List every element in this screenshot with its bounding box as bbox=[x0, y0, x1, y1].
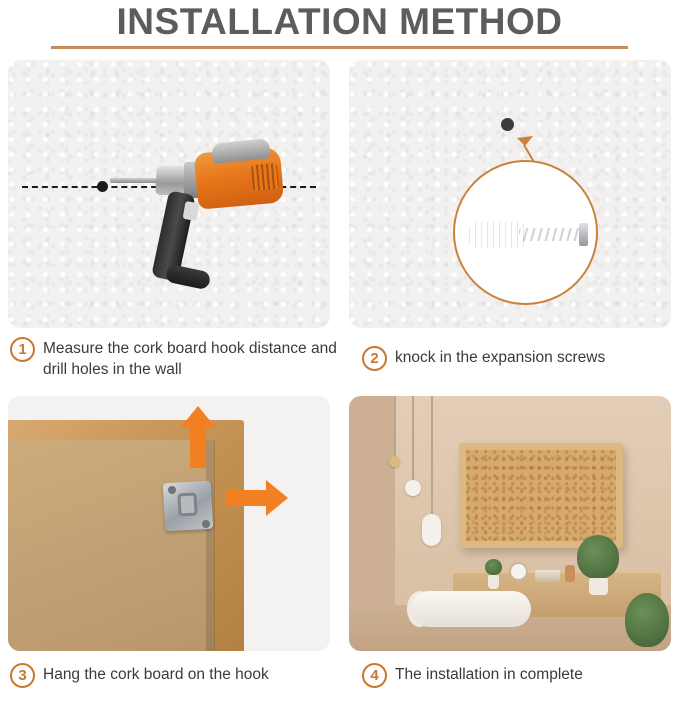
step-4-image bbox=[349, 396, 671, 651]
up-arrow-icon bbox=[180, 406, 216, 468]
mounted-cork-board bbox=[459, 443, 623, 548]
screw-head bbox=[579, 223, 588, 246]
cork-board-backing bbox=[8, 440, 214, 651]
decor-object bbox=[565, 565, 575, 582]
step-1-text: Measure the cork board hook distance and… bbox=[43, 336, 340, 380]
title-divider bbox=[51, 46, 628, 49]
step-3-text: Hang the cork board on the hook bbox=[43, 662, 269, 685]
pendant-cord-2 bbox=[431, 396, 433, 516]
drill-trigger bbox=[183, 201, 200, 221]
step-3-caption: 3 Hang the cork board on the hook bbox=[10, 662, 340, 688]
hook-screw-top bbox=[168, 486, 176, 494]
power-drill-illustration bbox=[100, 128, 290, 288]
step-2-image bbox=[349, 60, 671, 328]
step-2-caption: 2 knock in the expansion screws bbox=[362, 345, 672, 371]
board-edge-shadow bbox=[206, 440, 215, 651]
step-1-caption: 1 Measure the cork board hook distance a… bbox=[10, 336, 340, 380]
screw-shaft bbox=[519, 228, 585, 241]
small-plant bbox=[485, 559, 502, 575]
step-1-image bbox=[8, 60, 330, 328]
floor-plant bbox=[625, 593, 669, 647]
step-4-text: The installation in complete bbox=[395, 662, 583, 685]
drill-vent bbox=[251, 163, 279, 191]
right-arrow-icon bbox=[226, 480, 288, 516]
pendant-light-3 bbox=[389, 456, 400, 467]
cork-surface bbox=[466, 450, 616, 541]
wall-anchor-part bbox=[469, 222, 525, 248]
hook-keyhole-slot bbox=[177, 493, 197, 517]
wall-surface bbox=[8, 60, 330, 328]
table-plant bbox=[577, 535, 619, 579]
wall-surface bbox=[349, 60, 671, 328]
pendant-light-2 bbox=[422, 514, 441, 546]
magnified-detail-circle bbox=[453, 160, 598, 305]
table-clock bbox=[509, 562, 528, 581]
step-1-number: 1 bbox=[10, 337, 35, 362]
drill-bit bbox=[110, 178, 162, 183]
finished-room-scene bbox=[349, 396, 671, 651]
page-title: INSTALLATION METHOD bbox=[0, 0, 679, 44]
rolled-rug bbox=[411, 591, 531, 627]
drill-grip-base bbox=[165, 264, 212, 291]
hook-screw-bottom bbox=[202, 520, 210, 528]
step-2-number: 2 bbox=[362, 346, 387, 371]
installation-method-infographic: INSTALLATION METHOD bbox=[0, 0, 679, 703]
step-4-caption: 4 The installation in complete bbox=[362, 662, 672, 688]
table-plant-pot bbox=[589, 578, 608, 595]
step-3-image bbox=[8, 396, 330, 651]
page-title-area: INSTALLATION METHOD bbox=[0, 0, 679, 50]
pendant-light-1 bbox=[405, 480, 421, 496]
step-4-number: 4 bbox=[362, 663, 387, 688]
pendant-cord-1 bbox=[412, 396, 414, 482]
small-plant-pot bbox=[488, 575, 499, 589]
step-3-number: 3 bbox=[10, 663, 35, 688]
pendant-cord-3 bbox=[394, 396, 396, 458]
board-scene bbox=[8, 396, 330, 651]
stack-of-books bbox=[535, 570, 560, 582]
step-2-text: knock in the expansion screws bbox=[395, 345, 605, 368]
